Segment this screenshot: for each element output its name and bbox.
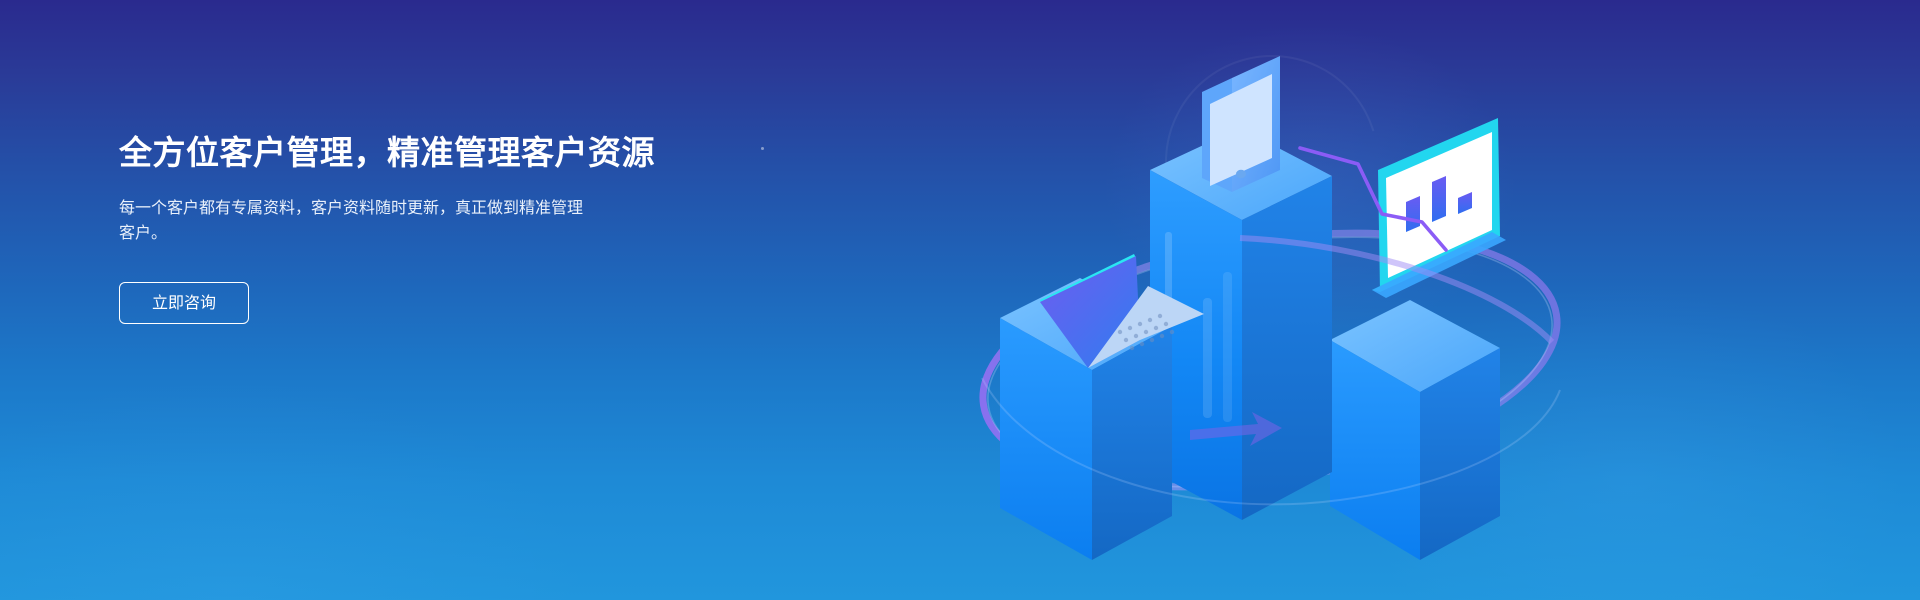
consult-now-button[interactable]: 立即咨询 [119, 282, 249, 324]
hero-banner: 全方位客户管理，精准管理客户资源 每一个客户都有专属资料，客户资料随时更新，真正… [0, 0, 1920, 600]
pillar-right [1330, 300, 1500, 560]
monitor-bar-chart [1372, 118, 1506, 298]
tablet [1202, 56, 1280, 192]
hero-illustration [940, 0, 1640, 600]
hero-subcopy: 每一个客户都有专属资料，客户资料随时更新，真正做到精准管理客户。 [119, 176, 597, 246]
page-title: 全方位客户管理，精准管理客户资源 [119, 130, 759, 176]
decorative-speck [761, 147, 764, 150]
hero-copy: 全方位客户管理，精准管理客户资源 每一个客户都有专属资料，客户资料随时更新，真正… [119, 130, 759, 324]
ambient-glow-bottom-left [0, 380, 580, 600]
